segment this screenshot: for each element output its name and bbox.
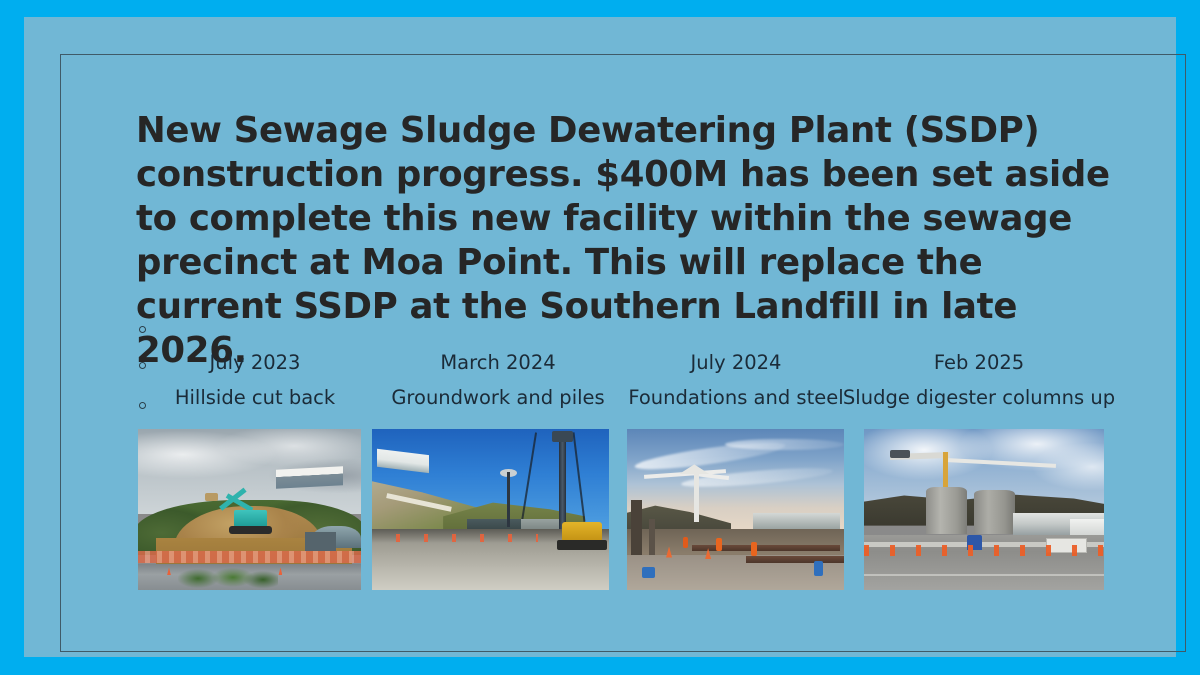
roadside-shrubs-shape <box>178 567 278 590</box>
blue-barrier-shape <box>814 561 823 576</box>
excavator-body-shape <box>234 510 267 528</box>
traffic-cone-row-shape <box>864 545 1104 556</box>
photo-sludge-digester-columns-up <box>864 429 1104 590</box>
column-caption-label: Foundations and steel <box>628 386 843 410</box>
column-date-label: July 2023 <box>210 351 301 375</box>
column-date-label: March 2024 <box>440 351 555 375</box>
progress-column-4: Feb 2025 Sludge digester columns up <box>850 351 1108 410</box>
digester-silo-shape <box>974 490 1015 533</box>
formwork-beam-shape <box>692 545 840 551</box>
road-marking-shape <box>864 574 1104 576</box>
column-date-label: Feb 2025 <box>934 351 1024 375</box>
safety-fence-shape <box>138 551 361 562</box>
presentation-slide: New Sewage Sludge Dewatering Plant (SSDP… <box>0 0 1200 675</box>
building-shape <box>276 466 343 489</box>
traffic-cone-row-shape <box>396 534 538 542</box>
photo-hillside-cut-back <box>138 429 361 590</box>
worker-hi-vis-shape <box>716 538 722 551</box>
blue-bucket-shape <box>642 567 655 578</box>
progress-column-1: July 2023 Hillside cut back <box>136 351 374 410</box>
steel-column-shape <box>631 500 642 555</box>
tower-crane-counterweight-shape <box>890 450 909 458</box>
bullet-marker-icon <box>139 326 146 333</box>
distant-building-shape <box>753 513 840 529</box>
excavator-bucket-shape <box>205 493 218 501</box>
column-caption-label: Hillside cut back <box>175 386 335 410</box>
column-date-label: July 2024 <box>691 351 782 375</box>
piling-rig-tracks-shape <box>557 540 607 550</box>
shed-shape <box>305 532 336 551</box>
piling-rig-mast-shape <box>559 432 566 535</box>
worker-hi-vis-shape <box>683 537 688 548</box>
photo-foundations-and-steel <box>627 429 844 590</box>
worker-hi-vis-shape <box>751 542 757 556</box>
light-pole-shape <box>507 472 510 527</box>
steel-column-shape <box>649 519 656 554</box>
plant-building-shape <box>1070 519 1104 537</box>
slide-canvas: New Sewage Sludge Dewatering Plant (SSDP… <box>24 17 1176 657</box>
photo-groundwork-and-piles <box>372 429 609 590</box>
tower-crane-mast-shape <box>694 469 699 522</box>
page-title: New Sewage Sludge Dewatering Plant (SSDP… <box>136 109 1126 373</box>
column-caption-label: Sludge digester columns up <box>843 386 1115 410</box>
column-caption-label: Groundwork and piles <box>391 386 604 410</box>
excavator-tracks-shape <box>229 526 271 534</box>
title-block: New Sewage Sludge Dewatering Plant (SSDP… <box>136 109 1126 373</box>
progress-column-2: March 2024 Groundwork and piles <box>374 351 622 410</box>
progress-columns: July 2023 Hillside cut back March 2024 G… <box>136 351 1108 410</box>
piling-rig-head-shape <box>552 431 573 442</box>
digester-silo-shape <box>926 487 967 534</box>
progress-column-3: July 2024 Foundations and steel <box>622 351 850 410</box>
formwork-beam-shape <box>746 556 844 562</box>
